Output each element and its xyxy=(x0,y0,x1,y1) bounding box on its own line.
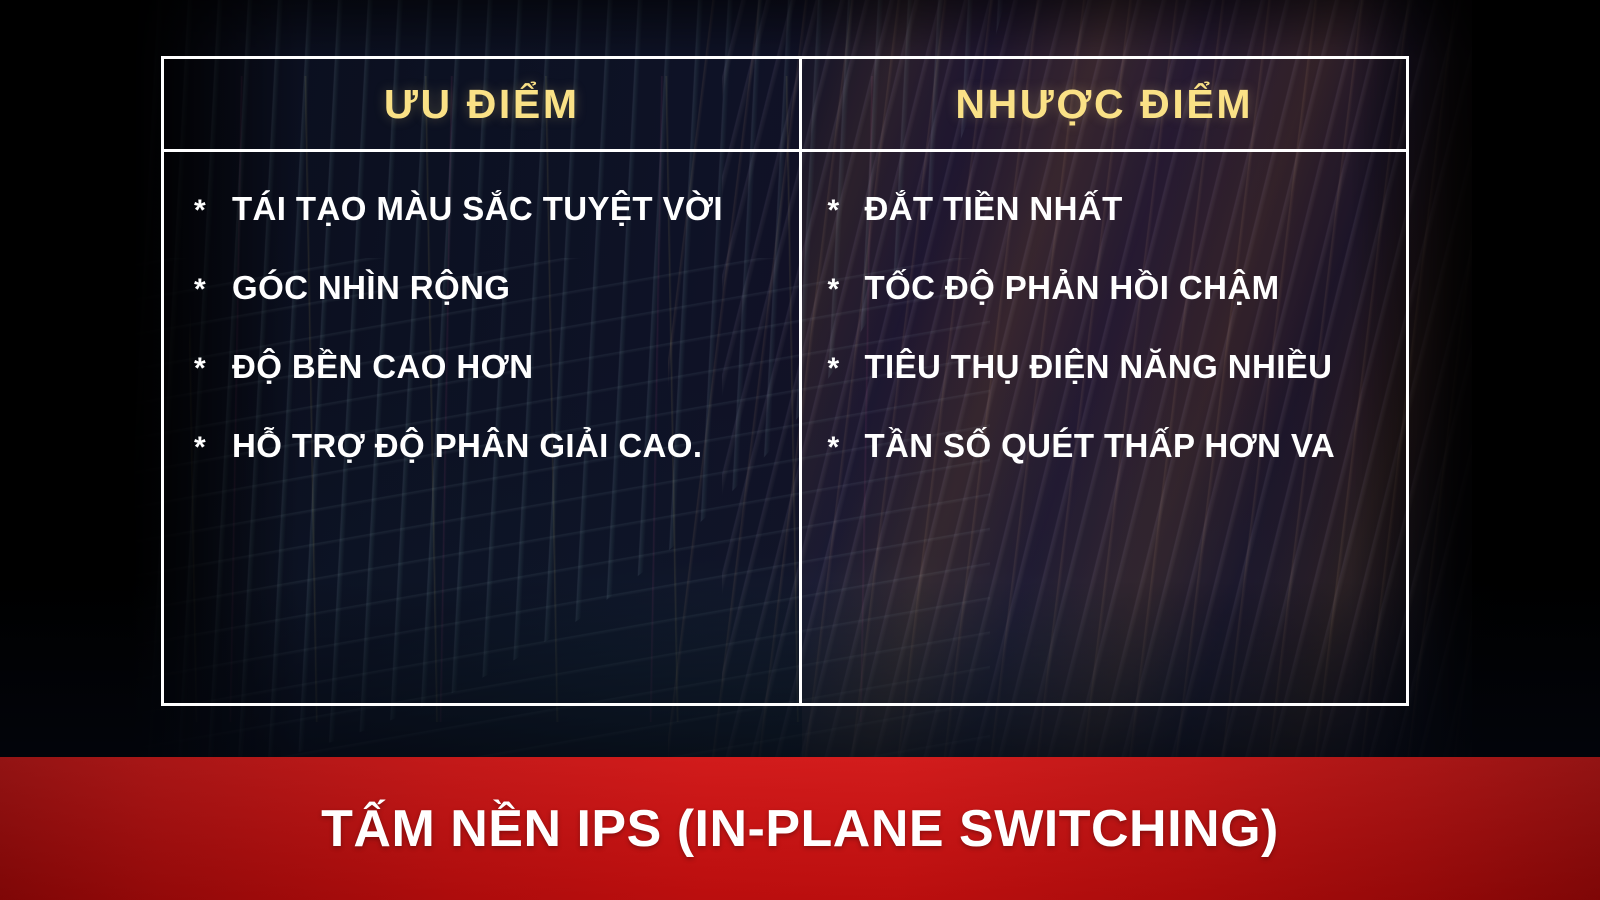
pros-header-cell: ƯU ĐIỂM xyxy=(164,59,799,152)
asterisk-icon: * xyxy=(194,354,232,384)
list-item: * ĐỘ BỀN CAO HƠN xyxy=(164,348,799,387)
list-item-label: GÓC NHÌN RỘNG xyxy=(232,269,510,308)
list-item: * TÁI TẠO MÀU SẮC TUYỆT VỜI xyxy=(164,190,799,229)
list-item-label: ĐẮT TIỀN NHẤT xyxy=(864,190,1122,229)
list-item: * HỖ TRỢ ĐỘ PHÂN GIẢI CAO. xyxy=(164,427,799,466)
bottom-banner: TẤM NỀN IPS (IN-PLANE SWITCHING) xyxy=(0,757,1600,900)
asterisk-icon: * xyxy=(827,354,864,384)
list-item: * TẦN SỐ QUÉT THẤP HƠN VA xyxy=(802,427,1406,466)
pros-heading: ƯU ĐIỂM xyxy=(384,81,580,128)
cons-body-cell: * ĐẮT TIỀN NHẤT * TỐC ĐỘ PHẢN HỒI CHẬM *… xyxy=(802,152,1406,703)
cons-heading: NHƯỢC ĐIỂM xyxy=(955,81,1253,128)
list-item-label: TẦN SỐ QUÉT THẤP HƠN VA xyxy=(864,427,1335,466)
cons-column: NHƯỢC ĐIỂM * ĐẮT TIỀN NHẤT * TỐC ĐỘ PHẢN… xyxy=(799,59,1406,703)
list-item-label: TIÊU THỤ ĐIỆN NĂNG NHIỀU xyxy=(864,348,1332,387)
asterisk-icon: * xyxy=(827,433,864,463)
pros-body-cell: * TÁI TẠO MÀU SẮC TUYỆT VỜI * GÓC NHÌN R… xyxy=(164,152,799,703)
list-item: * TỐC ĐỘ PHẢN HỒI CHẬM xyxy=(802,269,1406,308)
asterisk-icon: * xyxy=(194,433,232,463)
cons-header-cell: NHƯỢC ĐIỂM xyxy=(802,59,1406,152)
list-item-label: TỐC ĐỘ PHẢN HỒI CHẬM xyxy=(864,269,1279,308)
pros-column: ƯU ĐIỂM * TÁI TẠO MÀU SẮC TUYỆT VỜI * GÓ… xyxy=(164,59,799,703)
slide-root: ƯU ĐIỂM * TÁI TẠO MÀU SẮC TUYỆT VỜI * GÓ… xyxy=(0,0,1600,900)
asterisk-icon: * xyxy=(827,196,864,226)
comparison-table: ƯU ĐIỂM * TÁI TẠO MÀU SẮC TUYỆT VỜI * GÓ… xyxy=(161,56,1409,706)
list-item: * TIÊU THỤ ĐIỆN NĂNG NHIỀU xyxy=(802,348,1406,387)
list-item-label: TÁI TẠO MÀU SẮC TUYỆT VỜI xyxy=(232,190,723,229)
asterisk-icon: * xyxy=(194,275,232,305)
list-item: * GÓC NHÌN RỘNG xyxy=(164,269,799,308)
banner-title: TẤM NỀN IPS (IN-PLANE SWITCHING) xyxy=(321,799,1279,859)
asterisk-icon: * xyxy=(827,275,864,305)
list-item-label: ĐỘ BỀN CAO HƠN xyxy=(232,348,533,387)
list-item-label: HỖ TRỢ ĐỘ PHÂN GIẢI CAO. xyxy=(232,427,702,466)
pros-list: * TÁI TẠO MÀU SẮC TUYỆT VỜI * GÓC NHÌN R… xyxy=(164,190,799,466)
cons-list: * ĐẮT TIỀN NHẤT * TỐC ĐỘ PHẢN HỒI CHẬM *… xyxy=(802,190,1406,466)
asterisk-icon: * xyxy=(194,196,232,226)
list-item: * ĐẮT TIỀN NHẤT xyxy=(802,190,1406,229)
